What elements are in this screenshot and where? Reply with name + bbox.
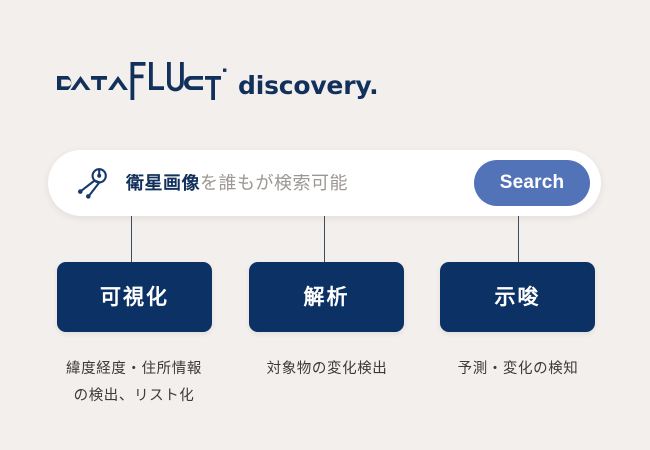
feature-card-analysis[interactable]: 解析: [249, 262, 404, 332]
feature-card-label: 解析: [304, 287, 350, 308]
feature-caption: 予測・変化の検知: [418, 356, 618, 383]
search-input[interactable]: 衛星画像を誰もが検索可能: [126, 174, 474, 192]
brand-logo: discovery.: [57, 54, 378, 100]
feature-card-insight[interactable]: 示唆: [440, 262, 595, 332]
feature-caption: 緯度経度・住所情報の検出、リスト化: [34, 356, 234, 410]
satellite-icon: [76, 166, 110, 200]
search-button[interactable]: Search: [474, 160, 590, 206]
search-bar[interactable]: 衛星画像を誰もが検索可能 Search: [48, 150, 601, 216]
logo-product-name: discovery.: [238, 73, 378, 100]
connector-line: [324, 216, 325, 263]
dataflag-wordmark-icon: [57, 56, 229, 100]
feature-caption: 対象物の変化検出: [227, 356, 427, 383]
feature-card-visualization[interactable]: 可視化: [57, 262, 212, 332]
search-placeholder-rest: を誰もが検索可能: [200, 174, 348, 192]
feature-card-label: 可視化: [100, 287, 169, 308]
connector-line: [131, 216, 132, 263]
feature-card-label: 示唆: [495, 287, 541, 308]
search-placeholder-keyword: 衛星画像: [126, 174, 200, 192]
connector-line: [518, 216, 519, 263]
